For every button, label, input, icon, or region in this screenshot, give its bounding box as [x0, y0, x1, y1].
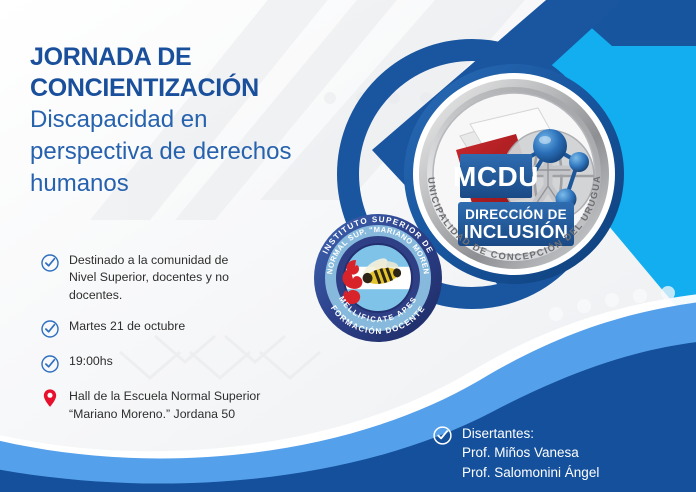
mcdu-title-line-1: DIRECCIÓN DE: [465, 207, 567, 222]
details-list: Destinado a la comunidad de Nivel Superi…: [40, 252, 340, 423]
speaker-name-1: Prof. Miños Vanesa: [462, 445, 579, 460]
list-item-text: Destinado a la comunidad de Nivel Superi…: [69, 252, 229, 304]
headline-line-1: JORNADA DE: [30, 42, 360, 73]
audience-line-3: docentes.: [69, 288, 122, 302]
subtitle-line-1: Discapacidad en: [30, 105, 360, 135]
venue-line-2: “Mariano Moreno.” Jordana 50: [69, 407, 235, 421]
check-circle-icon: [40, 319, 60, 339]
speaker-name-2: Prof. Salomonini Ángel: [462, 465, 599, 480]
instituto-superior-mariano-moreno-seal: INSTITUTO SUPERIOR DE E. NORMAL SUP. "MA…: [312, 212, 444, 344]
speakers-block: Disertantes: Prof. Miños Vanesa Prof. Sa…: [432, 424, 599, 482]
mcdu-title-line-2: INCLUSIÓN: [464, 221, 568, 242]
audience-line-1: Destinado a la comunidad de: [69, 253, 228, 267]
location-pin-icon: [40, 388, 60, 408]
list-item-audience: Destinado a la comunidad de Nivel Superi…: [40, 252, 340, 304]
subtitle-line-2: perspectiva de derechos: [30, 137, 360, 167]
speakers-title: Disertantes:: [462, 426, 534, 441]
time-text: 19:00hs: [69, 353, 113, 370]
check-circle-icon: [40, 354, 60, 374]
list-item-venue: Hall de la Escuela Normal Superior “Mari…: [40, 388, 340, 423]
speakers-text: Disertantes: Prof. Miños Vanesa Prof. Sa…: [462, 424, 599, 482]
page-title: JORNADA DE CONCIENTIZACIÓN Discapacidad …: [30, 42, 360, 199]
mcdu-acronym-text: MCDU: [453, 161, 539, 192]
subtitle-line-3: humanos: [30, 169, 360, 199]
audience-line-2: Nivel Superior, docentes y no: [69, 270, 229, 284]
date-text: Martes 21 de octubre: [69, 318, 185, 335]
list-item-date: Martes 21 de octubre: [40, 318, 340, 339]
list-item-time: 19:00hs: [40, 353, 340, 374]
poster-canvas: JORNADA DE CONCIENTIZACIÓN Discapacidad …: [0, 0, 696, 492]
venue-text: Hall de la Escuela Normal Superior “Mari…: [69, 388, 260, 423]
check-circle-icon: [432, 425, 453, 446]
check-circle-icon: [40, 253, 60, 273]
venue-line-1: Hall de la Escuela Normal Superior: [69, 389, 260, 403]
headline-line-2: CONCIENTIZACIÓN: [30, 73, 360, 104]
